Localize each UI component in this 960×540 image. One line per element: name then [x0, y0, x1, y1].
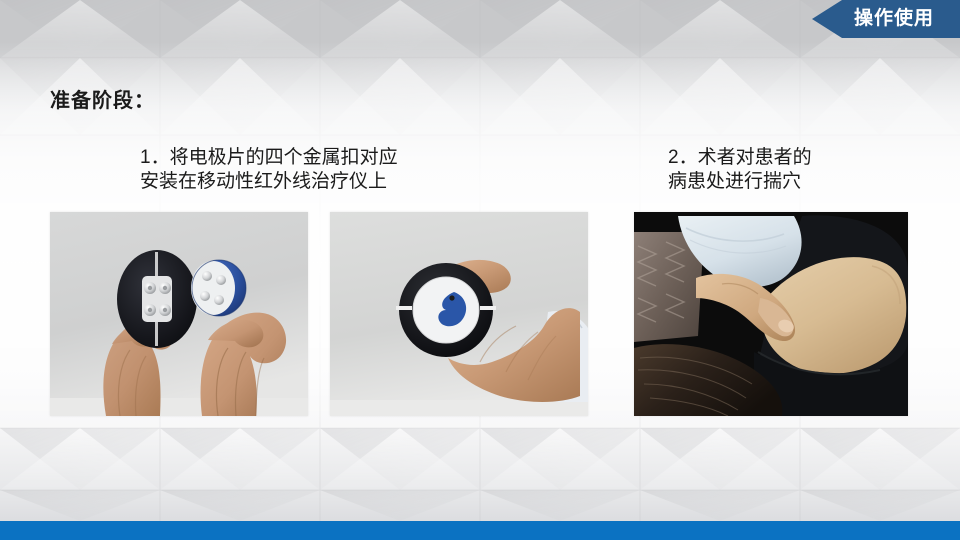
photo-acupoint-palpation	[634, 212, 908, 416]
section-banner: 操作使用	[812, 0, 960, 38]
photo-assembled-device-in-hand	[330, 212, 588, 416]
page-title: 准备阶段：	[50, 84, 155, 113]
footer-bar	[0, 521, 960, 540]
photo-electrode-pad-and-device	[50, 212, 308, 416]
step-1-photo-1	[50, 212, 308, 416]
step-1-photo-2	[330, 212, 588, 416]
slide-canvas: 操作使用 准备阶段： 1．将电极片的四个金属扣对应 安装在移动性红外线治疗仪上 …	[0, 0, 960, 540]
step-2-caption: 2．术者对患者的 病患处进行揣穴	[668, 146, 812, 195]
step-2-photo-1	[634, 212, 908, 416]
banner-label: 操作使用	[812, 0, 950, 38]
step-1-caption: 1．将电极片的四个金属扣对应 安装在移动性红外线治疗仪上	[140, 146, 398, 195]
